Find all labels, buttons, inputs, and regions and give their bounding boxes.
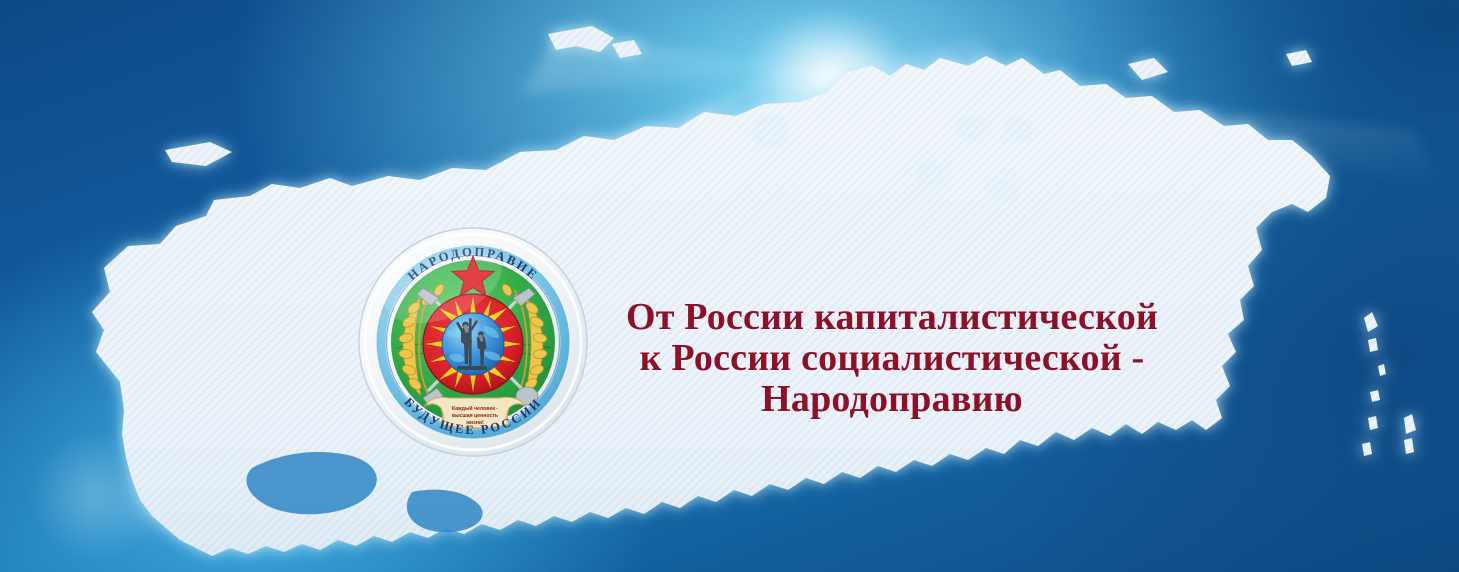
banner-root: Каждый человек - высшая ценность жизни! … (0, 0, 1459, 572)
title-line-3: Народоправию (612, 379, 1172, 420)
page-title: От России капиталистической к России соц… (612, 297, 1172, 420)
title-line-2: к России социалистической - (612, 338, 1172, 379)
scroll-line-1: Каждый человек - (452, 405, 498, 412)
russia-map (0, 0, 1459, 572)
emblem-svg: Каждый человек - высшая ценность жизни! … (357, 226, 589, 458)
globe-icon (442, 313, 504, 375)
title-line-1: От России капиталистической (612, 297, 1172, 338)
scroll-line-2: высшая ценность (452, 413, 498, 419)
emblem[interactable]: Каждый человек - высшая ценность жизни! … (357, 226, 589, 458)
